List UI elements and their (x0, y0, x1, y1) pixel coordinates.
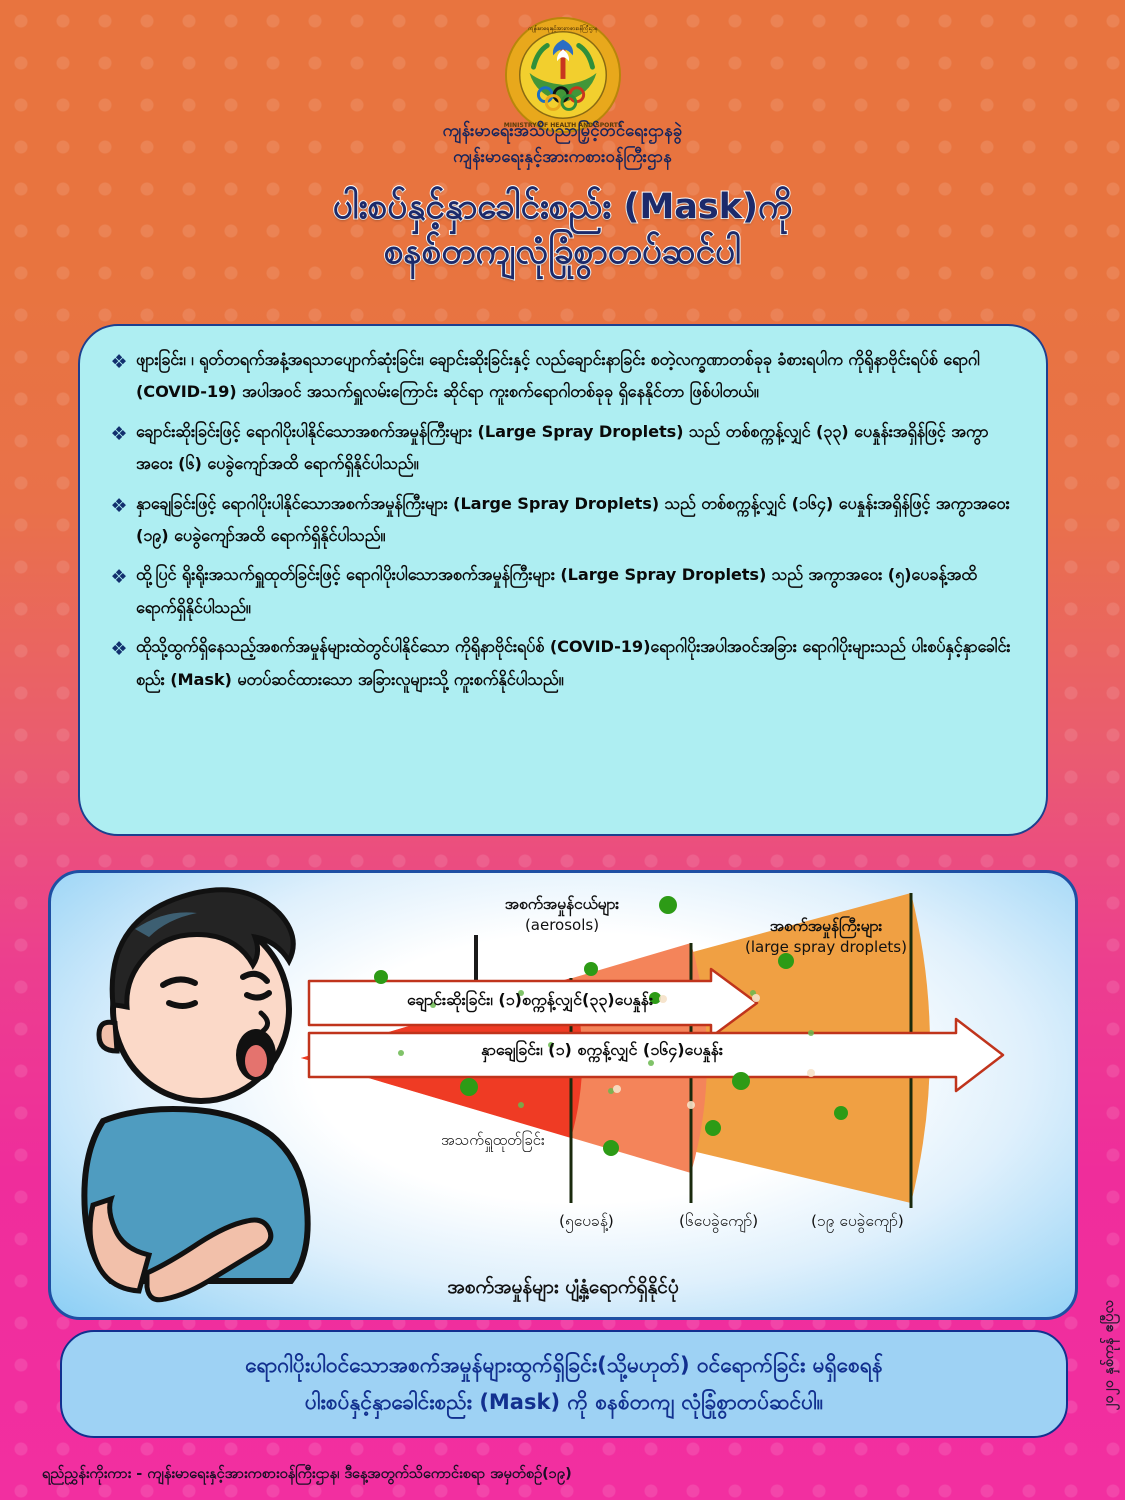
aerosols-label: အစက်အမှုန်ငယ်များ (aerosols) (447, 893, 677, 937)
bullet-item: ❖ နှာချေခြင်းဖြင့် ရောဂါပိုးပါနိုင်သောအစ… (102, 488, 1020, 553)
large-droplets-label-en: (large spray droplets) (691, 937, 961, 959)
large-droplets-label-my: အစက်အမှုန်ကြီးများ (691, 915, 961, 937)
aerosols-label-my: အစက်အမှုန်ငယ်များ (447, 893, 677, 915)
breathing-label: အသက်ရှူထုတ်ခြင်း (441, 1131, 651, 1153)
cough-arrow-label: ချောင်းဆိုးခြင်း၊ (၁)စက္ကန့်လျှင်(၃၃)ပေန… (407, 989, 653, 1013)
bullet-item: ❖ ချောင်းဆိုးခြင်းဖြင့် ရောဂါပိုးပါနိုင်… (102, 416, 1020, 481)
call-to-action-banner: ရောဂါပိုးပါဝင်သောအစက်အမှုန်များထွက်ရှိခြ… (60, 1330, 1068, 1438)
distance-marker-6ft: (၆ပေခွဲကျော်) (679, 1211, 758, 1234)
aerosols-label-en: (aerosols) (447, 915, 677, 937)
infographic-page: ကျန်းမာရေးနှင့်အားကစားဝန်ကြီးဌာန MINISTR… (0, 0, 1125, 1500)
bullet-diamond-icon: ❖ (102, 631, 136, 667)
bullet-text: ချောင်းဆိုးခြင်းဖြင့် ရောဂါပိုးပါနိုင်သေ… (136, 416, 1020, 481)
banner-line-1: ရောဂါပိုးပါဝင်သောအစက်အမှုန်များထွက်ရှိခြ… (245, 1347, 883, 1384)
title-line-2: စနစ်တကျလုံခြုံစွာတပ်ဆင်ပါ (0, 230, 1125, 275)
bullet-text: ထို့ပြင် ရိုးရိုးအသက်ရှူထုတ်ခြင်းဖြင့် ရ… (136, 559, 1020, 624)
information-panel: ❖ ဖျားခြင်း၊ ၊ ရုတ်တရက်အနံ့အရသာပျောက်ဆုံ… (78, 324, 1048, 836)
bullet-text: ဖျားခြင်း၊ ၊ ရုတ်တရက်အနံ့အရသာပျောက်ဆုံးခ… (136, 344, 1020, 409)
title-line-1: ပါးစပ်နှင့်နှာခေါင်းစည်း (Mask)ကို (0, 185, 1125, 230)
bullet-diamond-icon: ❖ (102, 416, 136, 452)
bullet-diamond-icon: ❖ (102, 559, 136, 595)
droplet-spread-diagram: အစက်အမှုန်ငယ်များ (aerosols) အစက်အမှုန်က… (48, 870, 1078, 1320)
coughing-person-illustration (84, 890, 307, 1300)
bullet-item: ❖ ထိုသို့ထွက်ရှိနေသည့်အစက်အမှုန်များထဲတွ… (102, 631, 1020, 696)
bullet-item: ❖ ထို့ပြင် ရိုးရိုးအသက်ရှူထုတ်ခြင်းဖြင့်… (102, 559, 1020, 624)
reference-footer: ရည်ညွှန်းကိုးကား - ကျန်းမာရေးနှင့်အားကစာ… (42, 1465, 572, 1486)
sneeze-arrow-label: နှာချေခြင်း၊ (၁) စက္ကန့်လျှင် (၁၆၄)ပေနှု… (481, 1039, 723, 1063)
department-line: ကျန်းမာရေးအသိပညာမြှင့်တင်ရေးဌာနခွဲ (0, 118, 1125, 144)
distance-marker-19ft: (၁၉ ပေခွဲကျော်) (811, 1211, 904, 1234)
bullet-text: ထိုသို့ထွက်ရှိနေသည့်အစက်အမှုန်များထဲတွင်… (136, 631, 1020, 696)
ministry-line: ကျန်းမာရေးနှင့်အားကစားဝန်ကြီးဌာန (0, 144, 1125, 170)
bullet-diamond-icon: ❖ (102, 488, 136, 524)
distance-marker-5ft: (၅ပေခန့်) (559, 1211, 614, 1234)
banner-line-2: ပါးစပ်နှင့်နှာခေါင်းစည်း (Mask) ကို စနစ်… (305, 1384, 823, 1421)
ministry-header-text: ကျန်းမာရေးအသိပညာမြှင့်တင်ရေးဌာနခွဲ ကျန်း… (0, 118, 1125, 169)
bullet-item: ❖ ဖျားခြင်း၊ ၊ ရုတ်တရက်အနံ့အရသာပျောက်ဆုံ… (102, 344, 1020, 409)
ministry-seal-logo: ကျန်းမာရေးနှင့်အားကစားဝန်ကြီးဌာန MINISTR… (504, 16, 622, 134)
diagram-caption: အစက်အမှုန်များ ပျံ့နှံ့ရောက်ရှိနိုင်ပုံ (51, 1275, 1075, 1303)
large-droplets-label: အစက်အမှုန်ကြီးများ (large spray droplets… (691, 915, 961, 959)
page-title: ပါးစပ်နှင့်နှာခေါင်းစည်း (Mask)ကို စနစ်တ… (0, 185, 1125, 275)
publication-date-sidenote: ၂၀၂၀ နှစ်ကုန် ဧပြီလ (1098, 1300, 1119, 1411)
bullet-text: နှာချေခြင်းဖြင့် ရောဂါပိုးပါနိုင်သောအစက်… (136, 488, 1020, 553)
bullet-diamond-icon: ❖ (102, 344, 136, 380)
